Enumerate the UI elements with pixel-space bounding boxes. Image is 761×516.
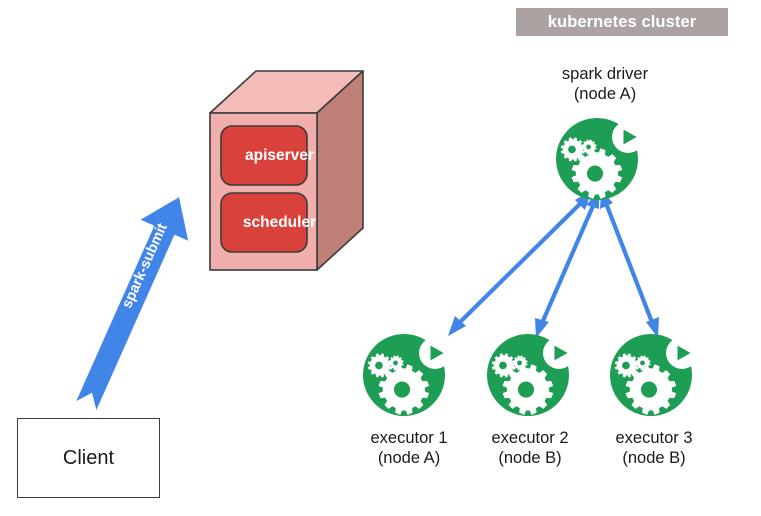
connection-driver-executor-2 bbox=[535, 191, 599, 338]
play-icon bbox=[419, 337, 451, 369]
executor-1-node[interactable] bbox=[363, 334, 451, 416]
executor-3-name: executor 3 bbox=[586, 428, 722, 448]
executor-3-caption: executor 3 (node B) bbox=[586, 428, 722, 468]
executor-2-node-id: (node B) bbox=[462, 448, 598, 468]
scheduler-label: scheduler bbox=[243, 214, 316, 232]
play-icon bbox=[666, 337, 698, 369]
spark-driver-name: spark driver bbox=[530, 64, 680, 84]
executor-3-node[interactable] bbox=[610, 334, 698, 416]
executor-1-name: executor 1 bbox=[341, 428, 477, 448]
kubernetes-cluster-label: kubernetes cluster bbox=[548, 13, 697, 32]
spark-driver-node[interactable] bbox=[556, 118, 644, 200]
executor-1-node-id: (node A) bbox=[341, 448, 477, 468]
executor-3-node-id: (node B) bbox=[586, 448, 722, 468]
client-box[interactable]: Client bbox=[17, 418, 160, 498]
spark-submit-arrow bbox=[63, 187, 203, 416]
scheduler-label-wrap[interactable]: scheduler bbox=[223, 195, 336, 250]
spark-driver-node-id: (node A) bbox=[530, 84, 680, 104]
spark-driver-caption: spark driver (node A) bbox=[530, 64, 680, 104]
play-icon bbox=[612, 121, 644, 153]
executor-1-caption: executor 1 (node A) bbox=[341, 428, 477, 468]
kubernetes-cluster-banner: kubernetes cluster bbox=[516, 8, 728, 36]
executor-2-node[interactable] bbox=[487, 334, 575, 416]
play-icon bbox=[543, 337, 575, 369]
driver-executor-connections bbox=[448, 190, 659, 338]
apiserver-label: apiserver bbox=[245, 147, 314, 165]
connection-driver-executor-3 bbox=[600, 190, 659, 338]
apiserver-label-wrap[interactable]: apiserver bbox=[223, 128, 336, 183]
executor-2-name: executor 2 bbox=[462, 428, 598, 448]
client-label: Client bbox=[63, 447, 114, 470]
executor-2-caption: executor 2 (node B) bbox=[462, 428, 598, 468]
